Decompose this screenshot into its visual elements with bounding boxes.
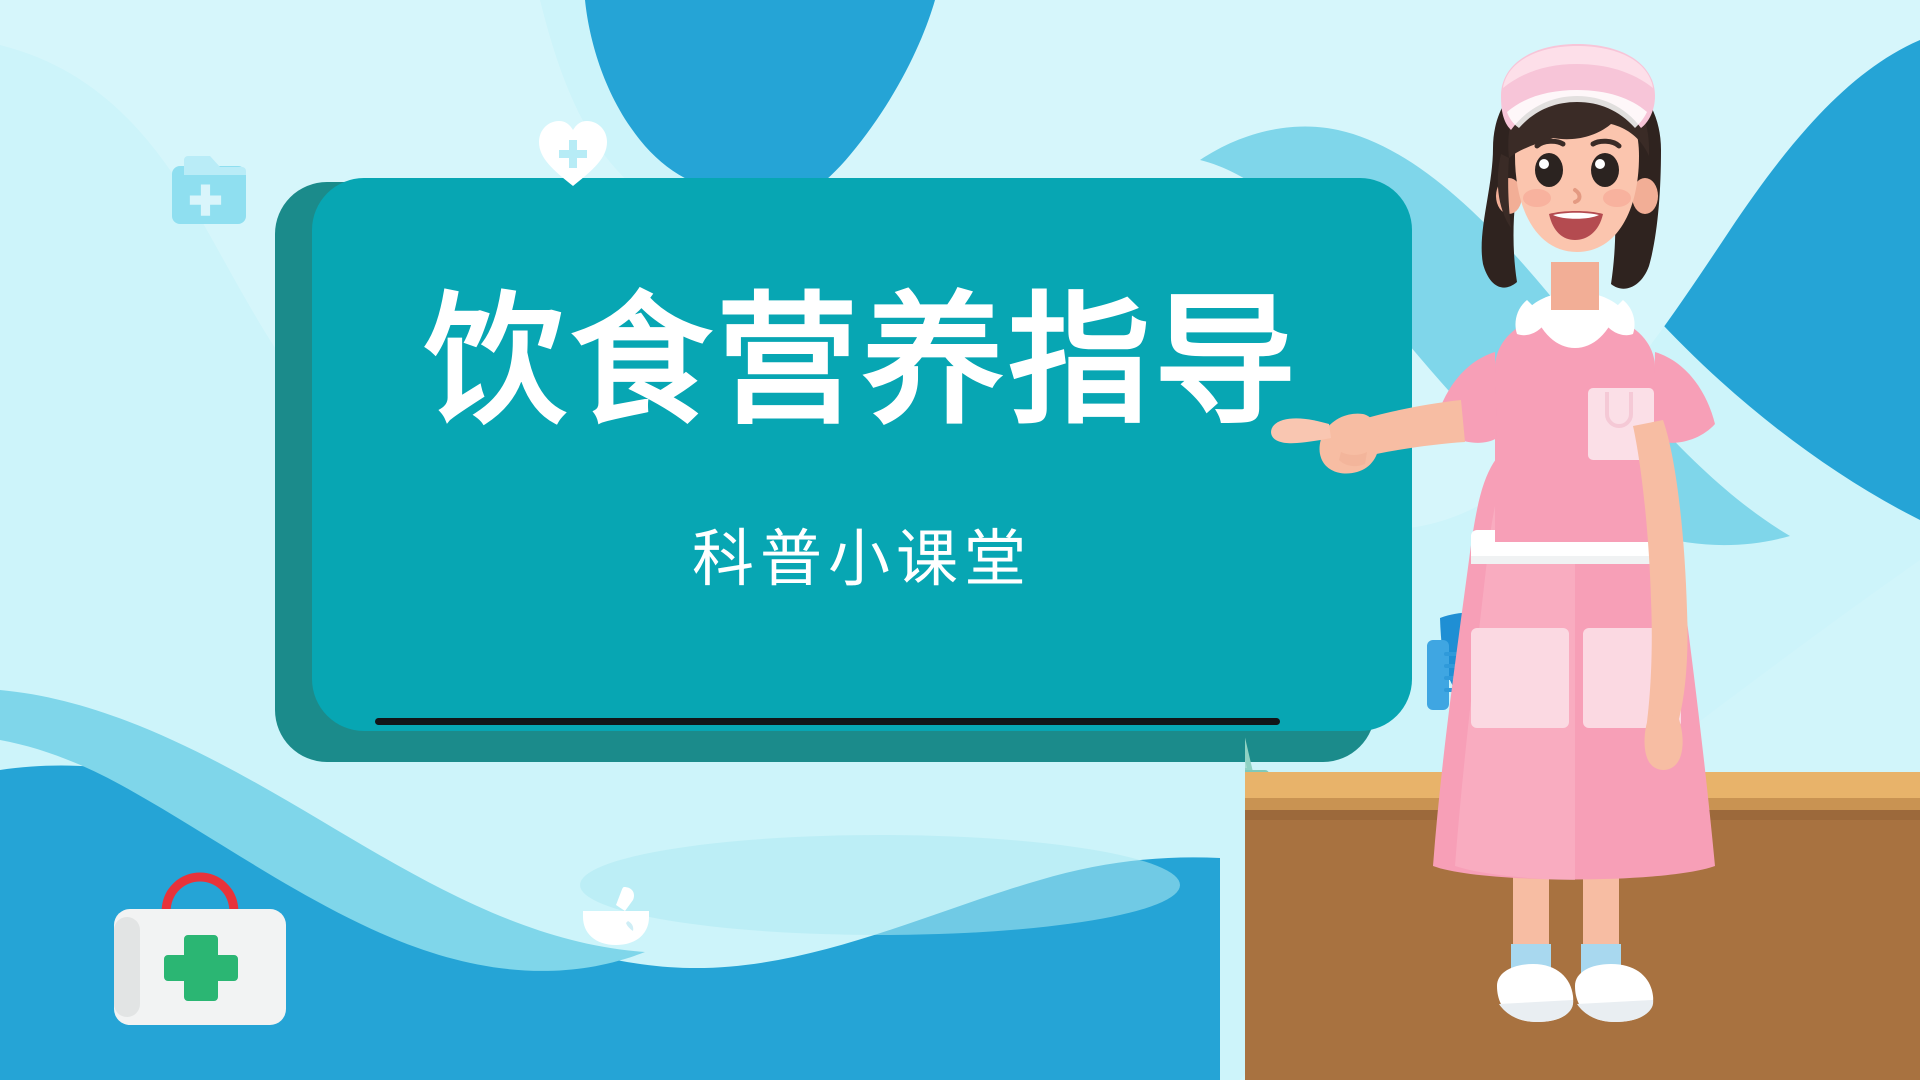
title-underline-rule (375, 718, 1280, 725)
heart-plus-icon (537, 118, 609, 188)
wave-pale-ellipse (580, 835, 1180, 935)
pointing-arm (1271, 400, 1465, 474)
laptop-prop (1245, 660, 1269, 778)
slide-canvas: 饮食营养指导 科普小课堂 (0, 0, 1920, 1080)
nurse-scene (1245, 0, 1920, 1080)
first-aid-kit-icon (100, 865, 300, 1035)
kit-handle-icon (166, 877, 234, 913)
mortar-bowl-icon (580, 885, 652, 947)
medical-bag-icon (170, 150, 248, 230)
